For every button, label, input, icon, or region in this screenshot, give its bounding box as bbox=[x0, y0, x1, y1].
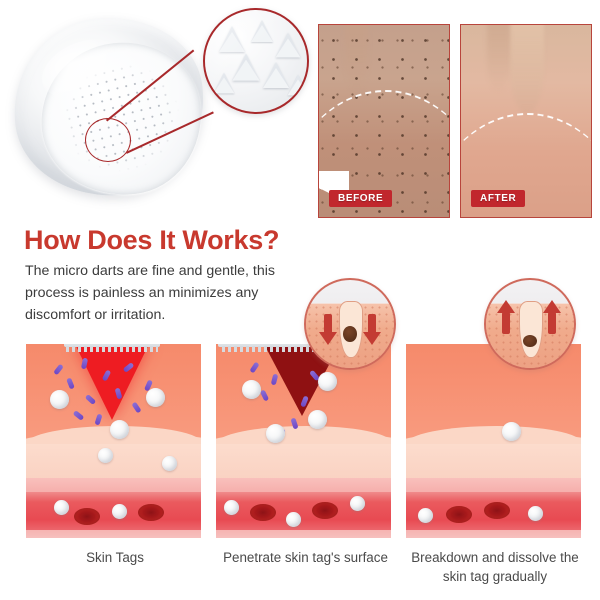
before-photo: BEFORE bbox=[318, 24, 450, 218]
dermis-layer bbox=[216, 444, 391, 480]
after-photo: AFTER bbox=[460, 24, 592, 218]
step-panel-3 bbox=[406, 340, 581, 538]
caption-step-3: Breakdown and dissolve the skin tag grad… bbox=[400, 548, 590, 586]
vessel-base bbox=[26, 530, 201, 538]
magnifier-penetration bbox=[304, 278, 396, 370]
magnified-darts-lens bbox=[203, 8, 309, 114]
up-arrow-left-icon bbox=[497, 300, 515, 313]
arrow-stem-right bbox=[548, 312, 556, 334]
step-panel-1 bbox=[26, 340, 201, 538]
magnifier-dissolve bbox=[484, 278, 576, 370]
patch-teeth-1 bbox=[66, 346, 158, 352]
before-badge: BEFORE bbox=[329, 190, 392, 207]
pore-debris bbox=[343, 326, 357, 342]
down-arrow-right-icon bbox=[363, 332, 381, 345]
skin-cross-section-2 bbox=[216, 344, 391, 538]
down-arrow-left-icon bbox=[319, 332, 337, 345]
lens-gloss bbox=[205, 10, 307, 112]
pore-debris bbox=[523, 335, 537, 347]
arrow-stem-right bbox=[368, 314, 376, 334]
dermis-layer bbox=[406, 444, 581, 480]
after-badge: AFTER bbox=[471, 190, 525, 207]
before-after-comparison: BEFORE AFTER bbox=[318, 24, 592, 218]
section-heading: How Does It Works? bbox=[24, 226, 354, 256]
arrow-stem-left bbox=[502, 312, 510, 334]
callout-circle-icon bbox=[85, 118, 131, 162]
pore bbox=[519, 301, 542, 358]
product-patch-illustration bbox=[0, 0, 312, 218]
up-arrow-right-icon bbox=[543, 300, 561, 313]
after-neck-highlight bbox=[510, 24, 544, 113]
caption-step-1: Skin Tags bbox=[20, 548, 210, 567]
patch-body bbox=[5, 9, 213, 206]
skin-cross-section-3 bbox=[406, 344, 581, 538]
step-panel-2 bbox=[216, 340, 391, 538]
how-it-works-panels bbox=[26, 340, 581, 540]
caption-step-2: Penetrate skin tag's surface bbox=[213, 548, 398, 567]
skin-cross-section-1 bbox=[26, 344, 201, 538]
infographic-root: BEFORE AFTER How Does It Works? The micr… bbox=[0, 0, 600, 600]
after-neck-shadow bbox=[487, 24, 510, 94]
section-body-text: The micro darts are fine and gentle, thi… bbox=[25, 260, 325, 326]
panel-captions: Skin Tags Penetrate skin tag's surface B… bbox=[0, 548, 600, 598]
arrow-stem-left bbox=[324, 314, 332, 334]
vessel-base bbox=[216, 530, 391, 538]
vessel-base bbox=[406, 530, 581, 538]
